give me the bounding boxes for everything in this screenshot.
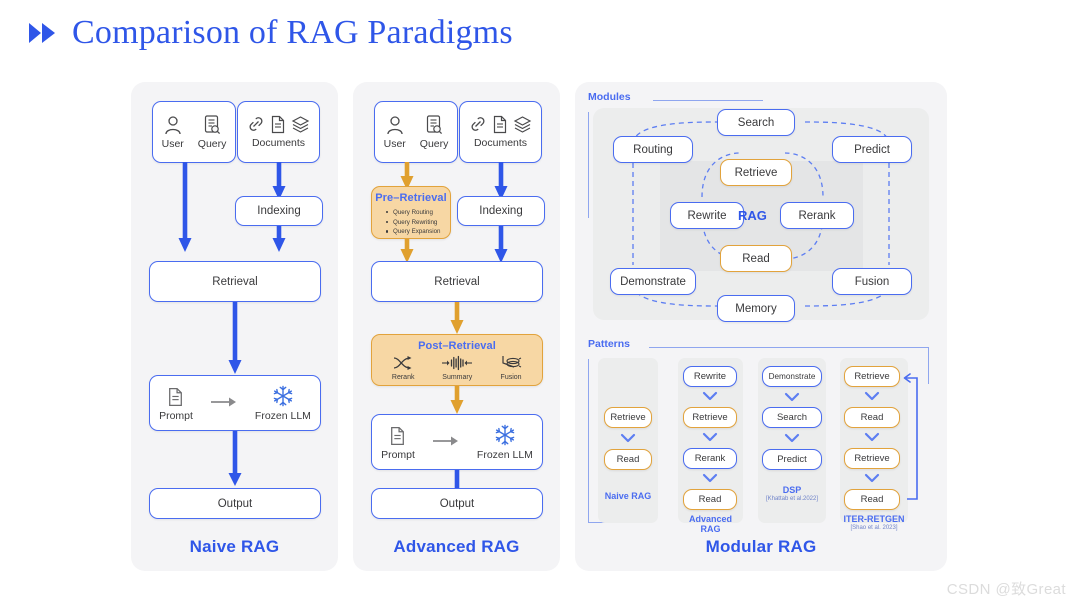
play-triangle-icon [28,20,58,46]
advanced-documents-item: Documents [469,115,532,149]
advanced-output-label: Output [440,498,475,510]
document-icon [492,115,508,134]
pattern-iter-step-read-2[interactable]: Read [844,489,900,510]
module-demonstrate[interactable]: Demonstrate [610,268,696,295]
pattern-dsp-step-predict[interactable]: Predict [762,449,822,470]
shuffle-icon [393,355,413,371]
document-icon [270,115,286,134]
advanced-source-box[interactable]: User Query [374,101,458,163]
naive-documents-box[interactable]: Documents [237,101,320,163]
panel-advanced-title: Advanced RAG [353,537,560,557]
naive-arrow-retrieval-to-generation [227,302,243,376]
user-icon [386,115,404,135]
advanced-indexing-node[interactable]: Indexing [457,196,545,226]
panel-naive-title: Naive RAG [131,537,338,557]
layers-icon [513,115,532,134]
pattern-advanced-chevron-2 [702,473,718,484]
advanced-user-label: User [384,138,406,150]
module-rerank[interactable]: Rerank [780,202,854,229]
pattern-dsp-step-0-label: Demonstrate [769,372,816,381]
module-memory[interactable]: Memory [717,295,795,322]
advanced-prompt-item: Prompt [381,426,415,461]
list-item: Query Rewriting [386,218,450,228]
pattern-iter-label: ITER-RETGEN [840,514,908,524]
page-title: Comparison of RAG Paradigms [28,14,513,52]
advanced-fusion-item: Fusion [500,354,522,381]
naive-prompt-label: Prompt [159,410,193,422]
pattern-dsp-step-2-label: Predict [777,454,807,465]
advanced-llm-label: Frozen LLM [477,449,533,461]
advanced-summary-label: Summary [442,374,472,381]
naive-user-label: User [162,138,184,150]
pattern-advanced-chevron-0 [702,391,718,402]
pattern-iter-step-1-label: Read [861,412,884,423]
advanced-user-item: User [384,115,406,150]
advanced-generation-box[interactable]: Prompt [371,414,543,470]
patterns-section-vrule-left [588,359,589,523]
list-item: Query Expansion [386,227,450,237]
panel-modular-title: Modular RAG [575,537,947,557]
module-fusion[interactable]: Fusion [832,268,912,295]
panel-advanced-rag: User Query [353,82,560,571]
pattern-naive-step-1-label: Read [617,454,640,465]
pattern-iter-citation: [Shao et al. 2023] [840,525,908,531]
link-icon [247,115,265,134]
module-rewrite[interactable]: Rewrite [670,202,744,229]
pattern-advanced-step-rewrite[interactable]: Rewrite [683,366,737,387]
slide-canvas: Comparison of RAG Paradigms User [0,0,1080,607]
module-read-label: Read [742,253,770,265]
list-item: Query Routing [386,208,450,218]
pattern-iter-step-retrieve-2[interactable]: Retrieve [844,448,900,469]
advanced-post-retrieval-box[interactable]: Post–Retrieval Rerank [371,334,543,386]
pattern-dsp-citation: [Khattab et al.2022] [758,496,826,502]
pattern-iter-step-0-label: Retrieve [854,371,889,382]
pattern-advanced-step-2-label: Rerank [695,453,726,464]
naive-arrow-indexing-to-retrieval [271,226,287,254]
waveform-icon [442,355,472,371]
advanced-rerank-label: Rerank [392,374,415,381]
pattern-naive-chevron-0 [620,433,636,444]
naive-user-item: User [162,115,184,150]
pattern-dsp-step-1-label: Search [777,412,807,423]
advanced-query-item: Query [420,115,449,150]
pattern-iter-step-retrieve-1[interactable]: Retrieve [844,366,900,387]
module-predict[interactable]: Predict [832,136,912,163]
pattern-naive-step-retrieve[interactable]: Retrieve [604,407,652,428]
layers-icon [291,115,310,134]
module-rewrite-label: Rewrite [688,210,727,222]
modules-section-vrule [588,112,589,218]
modules-center-label: RAG [738,208,767,223]
module-read[interactable]: Read [720,245,792,272]
advanced-pre-retrieval-title: Pre–Retrieval [372,192,450,204]
pattern-dsp-step-search[interactable]: Search [762,407,822,428]
fusion-stack-icon [500,354,522,371]
module-retrieve[interactable]: Retrieve [720,159,792,186]
naive-llm-label: Frozen LLM [255,410,311,422]
panel-modular-rag: Modules [575,82,947,571]
pattern-advanced-chevron-1 [702,432,718,443]
advanced-query-label: Query [420,138,449,150]
advanced-indexing-label: Indexing [479,205,522,217]
pattern-iter-feedback-arrow [897,370,923,502]
patterns-section-rule [649,347,929,348]
pattern-iter-chevron-0 [864,391,880,402]
pattern-iter-step-read-1[interactable]: Read [844,407,900,428]
module-search[interactable]: Search [717,109,795,136]
naive-prompt-item: Prompt [159,387,193,422]
advanced-retrieval-label: Retrieval [434,276,479,288]
naive-documents-item: Documents [247,115,310,149]
pattern-advanced-step-read[interactable]: Read [683,489,737,510]
pattern-iter-step-2-label: Retrieve [854,453,889,464]
module-rerank-label: Rerank [798,210,835,222]
advanced-rerank-item: Rerank [392,355,415,381]
advanced-pre-retrieval-list: Query Routing Query Rewriting Query Expa… [386,208,450,237]
document-icon [167,387,184,407]
naive-documents-label: Documents [252,137,305,149]
pattern-advanced-step-rerank[interactable]: Rerank [683,448,737,469]
patterns-section-label: Patterns [588,338,630,350]
pattern-naive-step-0-label: Retrieve [610,412,645,423]
naive-indexing-node[interactable]: Indexing [235,196,323,226]
snowflake-icon [272,385,294,407]
module-predict-label: Predict [854,144,890,156]
advanced-summary-item: Summary [442,355,472,381]
naive-retrieval-node[interactable]: Retrieval [149,261,321,302]
pattern-advanced-step-1-label: Retrieve [692,412,727,423]
naive-indexing-label: Indexing [257,205,300,217]
advanced-arrow-indexing-to-retrieval [493,226,509,266]
module-routing-label: Routing [633,144,673,156]
pattern-advanced-step-retrieve[interactable]: Retrieve [683,407,737,428]
naive-query-item: Query [198,115,227,150]
advanced-output-node[interactable]: Output [371,488,543,519]
pattern-naive-step-read[interactable]: Read [604,449,652,470]
naive-output-label: Output [218,498,253,510]
page-title-text: Comparison of RAG Paradigms [72,14,513,52]
pattern-naive-label: Naive RAG [598,491,658,501]
module-memory-label: Memory [735,303,777,315]
advanced-documents-box[interactable]: Documents [459,101,542,163]
patterns-section-vrule-right [928,347,929,384]
naive-retrieval-label: Retrieval [212,276,257,288]
naive-generation-box[interactable]: Prompt [149,375,321,431]
advanced-retrieval-node[interactable]: Retrieval [371,261,543,302]
module-demonstrate-label: Demonstrate [620,276,686,288]
advanced-post-retrieval-title: Post–Retrieval [372,340,542,352]
module-search-label: Search [738,117,774,129]
pattern-advanced-label: Advanced RAG [678,514,743,534]
document-icon [389,426,406,446]
advanced-arrow-retrieval-to-post-retrieval [449,302,465,336]
pattern-iter-step-3-label: Read [861,494,884,505]
naive-query-label: Query [198,138,227,150]
naive-arrow-user-to-retrieval [177,162,193,254]
panel-naive-rag: User Query [131,82,338,571]
snowflake-icon [494,424,516,446]
advanced-llm-item: Frozen LLM [477,424,533,461]
naive-output-node[interactable]: Output [149,488,321,519]
advanced-fusion-label: Fusion [501,374,522,381]
pattern-iter-chevron-1 [864,432,880,443]
arrow-right-icon [433,435,459,447]
watermark: CSDN @致Great [947,578,1066,599]
advanced-arrow-post-retrieval-to-generation [449,386,465,416]
pattern-advanced-step-3-label: Read [699,494,722,505]
pattern-iter-chevron-2 [864,473,880,484]
arrow-right-icon [211,396,237,408]
modules-section-rule [653,100,763,101]
module-fusion-label: Fusion [855,276,890,288]
module-routing[interactable]: Routing [613,136,693,163]
pattern-dsp-chevron-1 [784,433,800,444]
pattern-advanced-step-0-label: Rewrite [694,371,726,382]
link-icon [469,115,487,134]
modules-section-label: Modules [588,91,631,103]
advanced-pre-retrieval-box[interactable]: Pre–Retrieval Query Routing Query Rewrit… [371,186,451,239]
document-search-icon [203,115,221,135]
module-retrieve-label: Retrieve [735,167,778,179]
naive-source-box[interactable]: User Query [152,101,236,163]
document-search-icon [425,115,443,135]
naive-arrow-generation-to-output [227,431,243,488]
pattern-dsp-chevron-0 [784,392,800,403]
advanced-prompt-label: Prompt [381,449,415,461]
pattern-dsp-label: DSP [758,485,826,495]
user-icon [164,115,182,135]
advanced-documents-label: Documents [474,137,527,149]
naive-llm-item: Frozen LLM [255,385,311,422]
pattern-dsp-step-demonstrate[interactable]: Demonstrate [762,366,822,387]
